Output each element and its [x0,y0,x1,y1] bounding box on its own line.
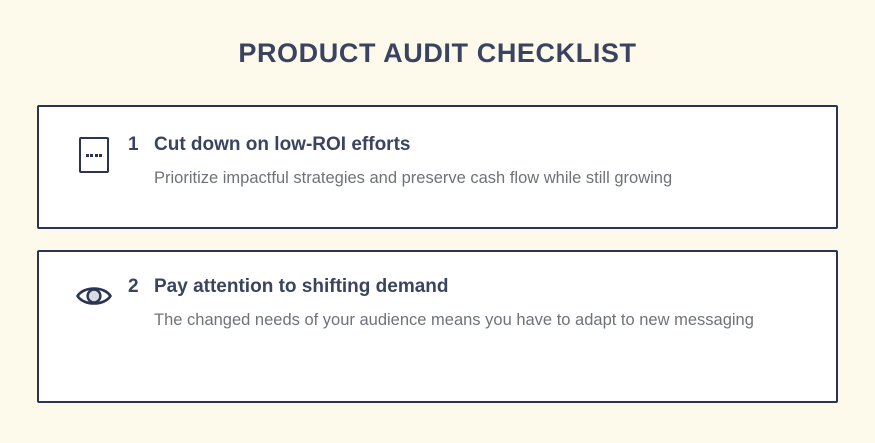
card-content-1: 1 Cut down on low-ROI efforts Prioritize… [39,107,836,227]
checklist-card-1[interactable]: 1 Cut down on low-ROI efforts Prioritize… [37,105,838,229]
dash-3 [95,154,98,157]
dash-4 [99,154,102,157]
item-text-1: 1 Cut down on low-ROI efforts Prioritize… [128,133,812,190]
dash-2 [90,154,93,157]
item-title-2: Pay attention to shifting demand [154,275,449,299]
icon-slot-2 [72,278,116,314]
checklist-card-2[interactable]: 2 Pay attention to shifting demand The c… [37,250,838,403]
item-number-1: 1 [128,133,154,157]
page-title: PRODUCT AUDIT CHECKLIST [0,38,875,69]
item-description-2: The changed needs of your audience means… [154,308,812,332]
checklist-page: PRODUCT AUDIT CHECKLIST 1 Cut down on lo… [0,0,875,443]
card-content-2: 2 Pay attention to shifting demand The c… [39,252,836,401]
document-dashes-icon [79,137,109,173]
icon-slot-1 [72,137,116,173]
item-number-2: 2 [128,275,154,299]
item-heading-2: 2 Pay attention to shifting demand [128,275,812,299]
item-title-1: Cut down on low-ROI efforts [154,133,410,157]
item-text-2: 2 Pay attention to shifting demand The c… [128,275,812,332]
dash-1 [86,154,89,157]
item-heading-1: 1 Cut down on low-ROI efforts [128,133,812,157]
eye-icon [75,283,113,309]
item-description-1: Prioritize impactful strategies and pres… [154,166,812,190]
